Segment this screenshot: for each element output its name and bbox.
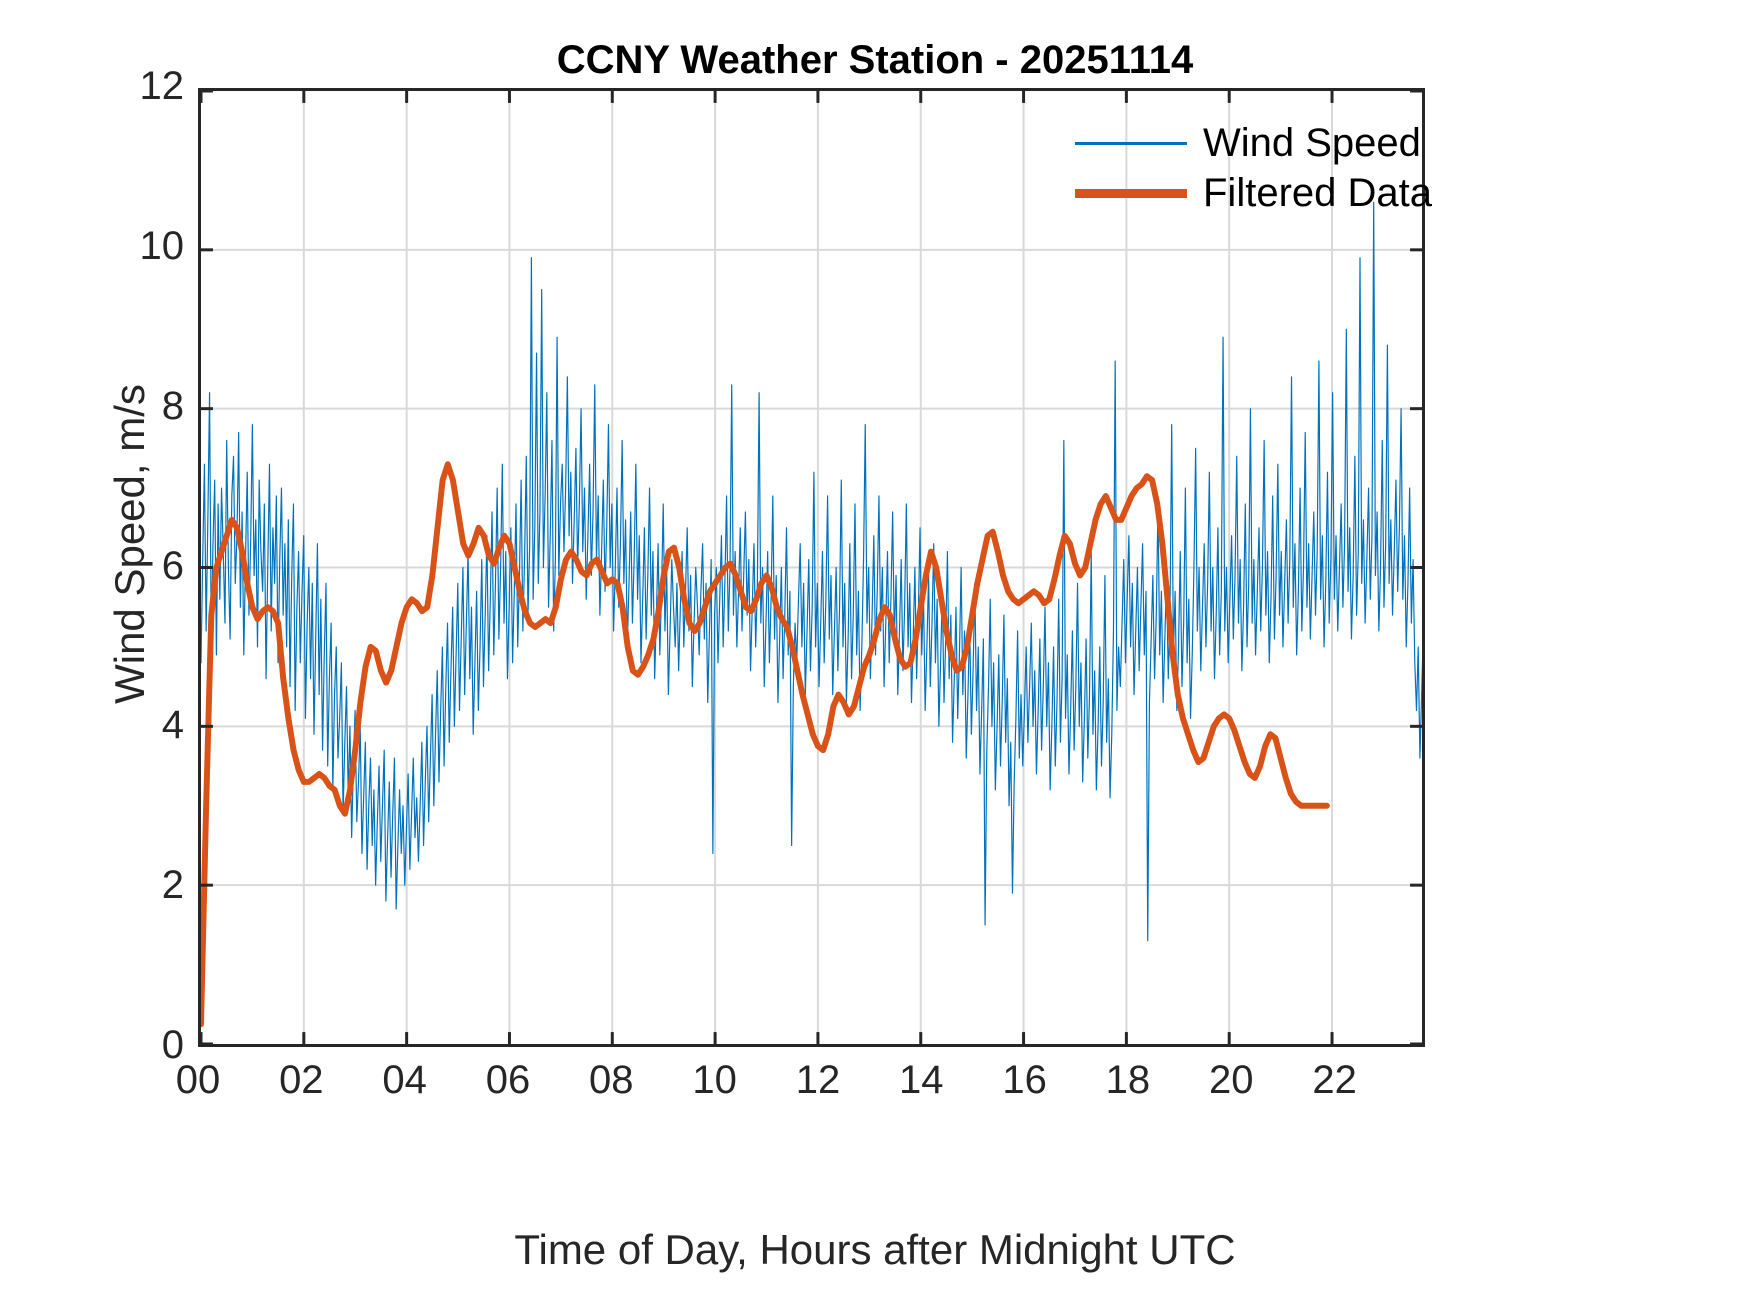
x-tick-label: 00 [138, 1060, 258, 1100]
x-tick-label: 06 [448, 1060, 568, 1100]
y-axis-label: Wind Speed, m/s [106, 194, 154, 894]
legend-swatch-filtered-data [1075, 189, 1187, 198]
x-tick-label: 08 [551, 1060, 671, 1100]
legend-item-filtered-data[interactable]: Filtered Data [1075, 168, 1415, 218]
figure: CCNY Weather Station - 20251114 02468101… [0, 0, 1750, 1313]
plot-svg [201, 91, 1422, 1044]
x-tick-label: 16 [965, 1060, 1085, 1100]
plot-area [198, 88, 1425, 1047]
y-tick-label: 0 [64, 1025, 184, 1065]
series-path-0 [201, 202, 1422, 980]
chart-title: CCNY Weather Station - 20251114 [0, 38, 1750, 83]
x-tick-label: 04 [345, 1060, 465, 1100]
gridlines [201, 91, 1422, 1044]
x-tick-label: 18 [1068, 1060, 1188, 1100]
x-tick-label: 12 [758, 1060, 878, 1100]
x-tick-label: 02 [241, 1060, 361, 1100]
x-tick-label: 22 [1275, 1060, 1395, 1100]
x-tick-label: 14 [861, 1060, 981, 1100]
chart-legend: Wind Speed Filtered Data [1075, 118, 1415, 218]
x-tick-label: 20 [1171, 1060, 1291, 1100]
y-tick-label: 12 [64, 66, 184, 106]
legend-swatch-wind-speed [1075, 142, 1187, 145]
x-tick-label: 10 [655, 1060, 775, 1100]
legend-label-filtered-data: Filtered Data [1203, 168, 1432, 218]
x-axis-label: Time of Day, Hours after Midnight UTC [0, 1226, 1750, 1274]
legend-label-wind-speed: Wind Speed [1203, 118, 1421, 168]
legend-item-wind-speed[interactable]: Wind Speed [1075, 118, 1415, 168]
